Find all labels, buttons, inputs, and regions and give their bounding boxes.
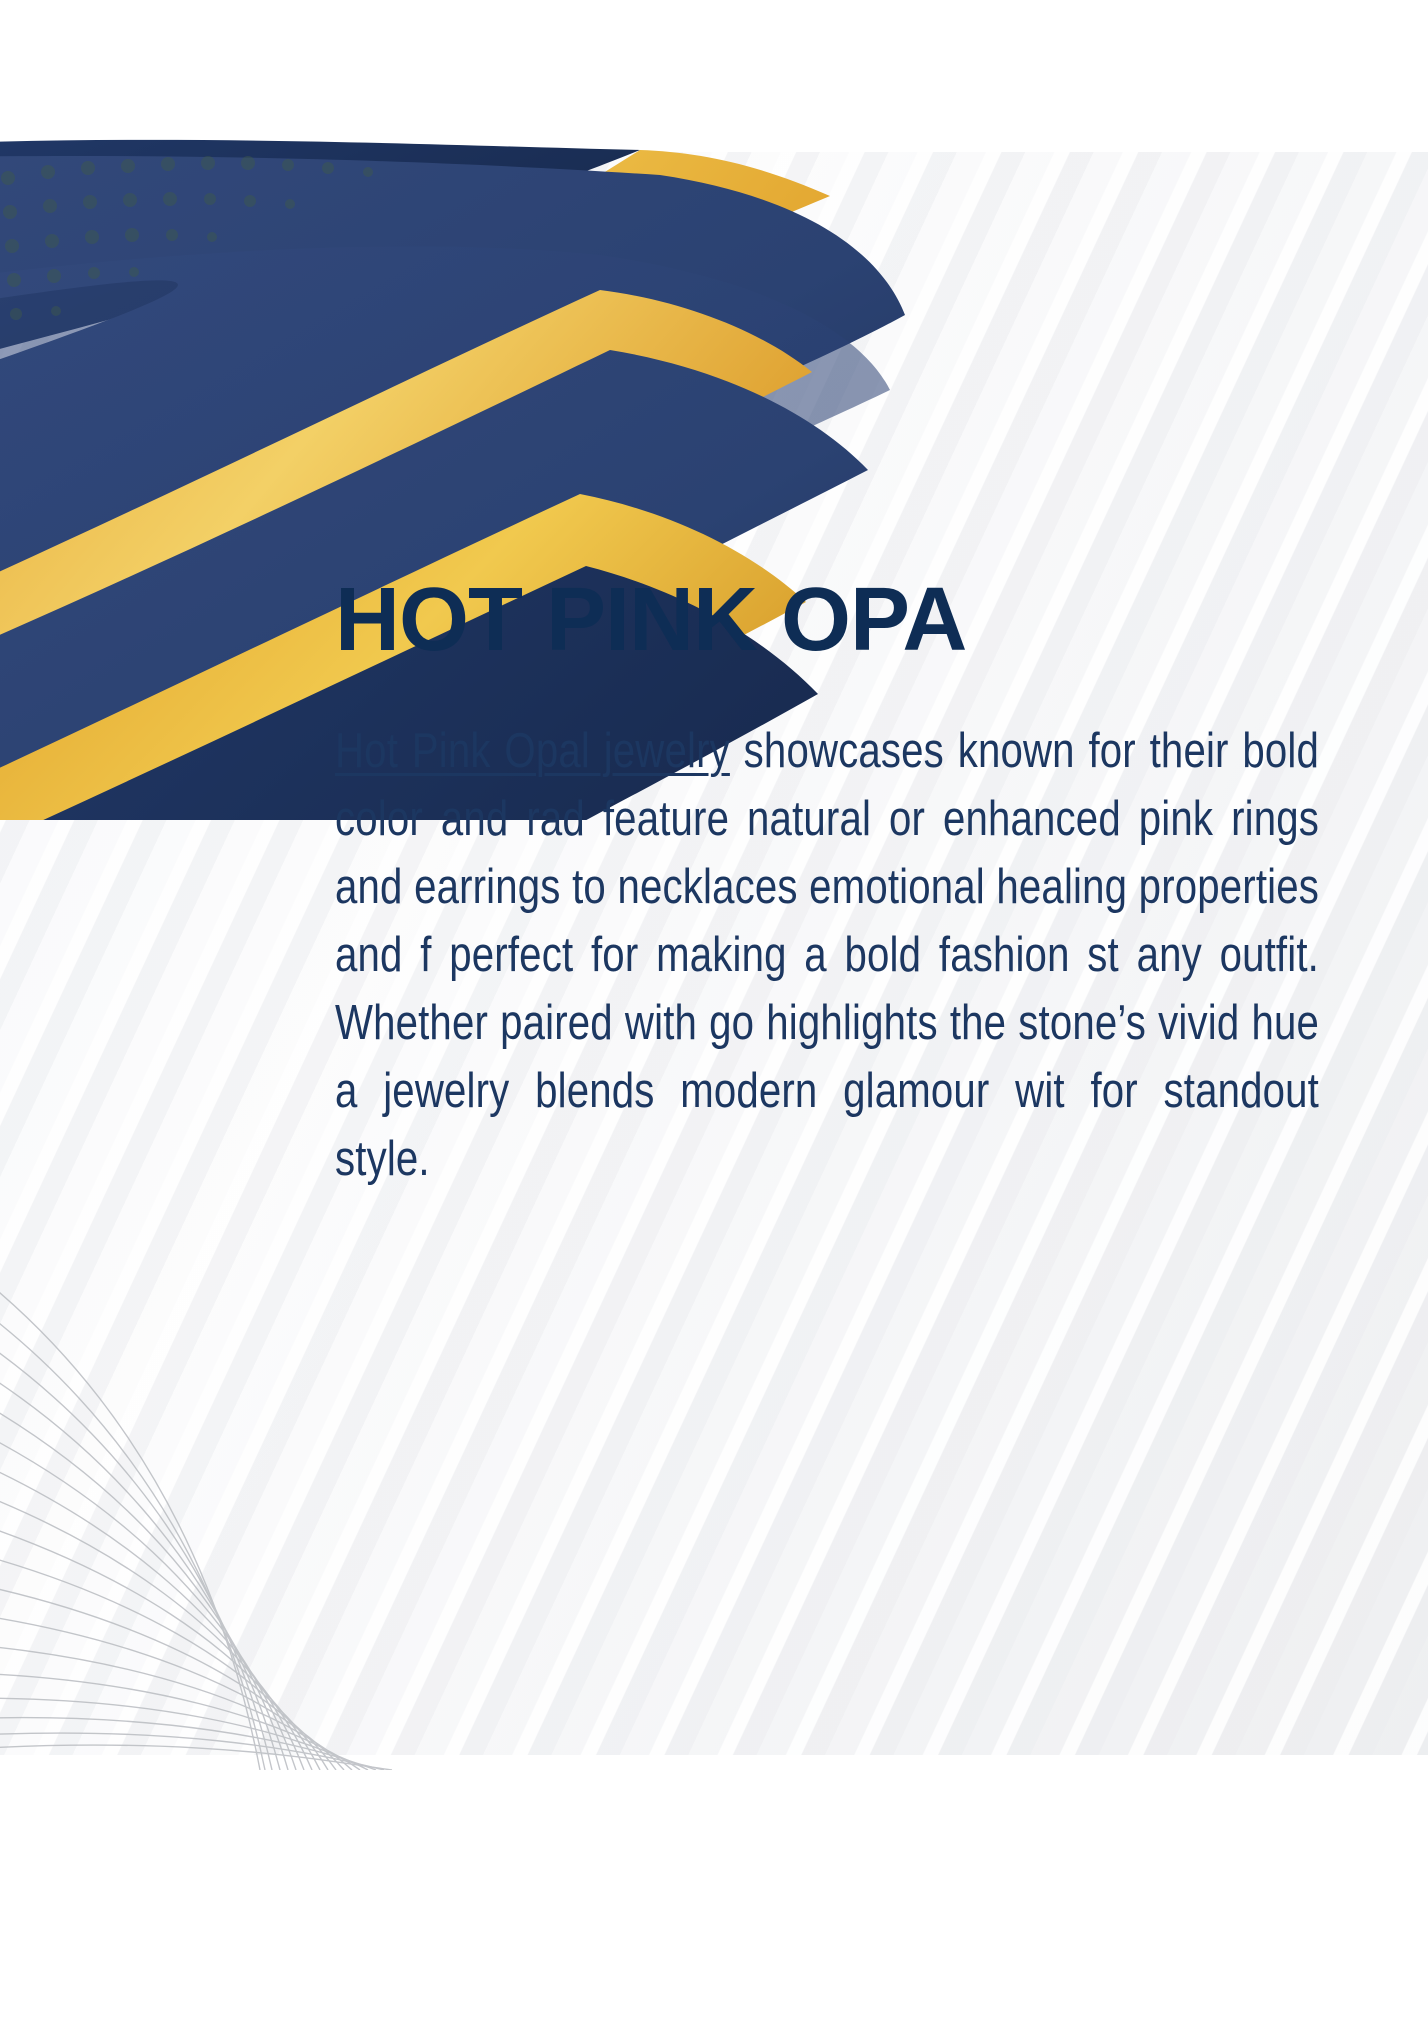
bottom-white-margin [0, 1755, 1428, 2018]
page-title: HOT PINK OPA [335, 575, 1428, 665]
content-block: HOT PINK OPA Hot Pink Opal jewelry showc… [335, 575, 1428, 1193]
curved-line-mesh-graphic [0, 1210, 520, 1770]
body-paragraph-text: showcases known for their bold color and… [335, 724, 1319, 1186]
hot-pink-opal-jewelry-link[interactable]: Hot Pink Opal jewelry [335, 724, 730, 778]
body-paragraph: Hot Pink Opal jewelry showcases known fo… [335, 717, 1319, 1193]
flyer-page: HOT PINK OPA Hot Pink Opal jewelry showc… [0, 0, 1428, 2018]
